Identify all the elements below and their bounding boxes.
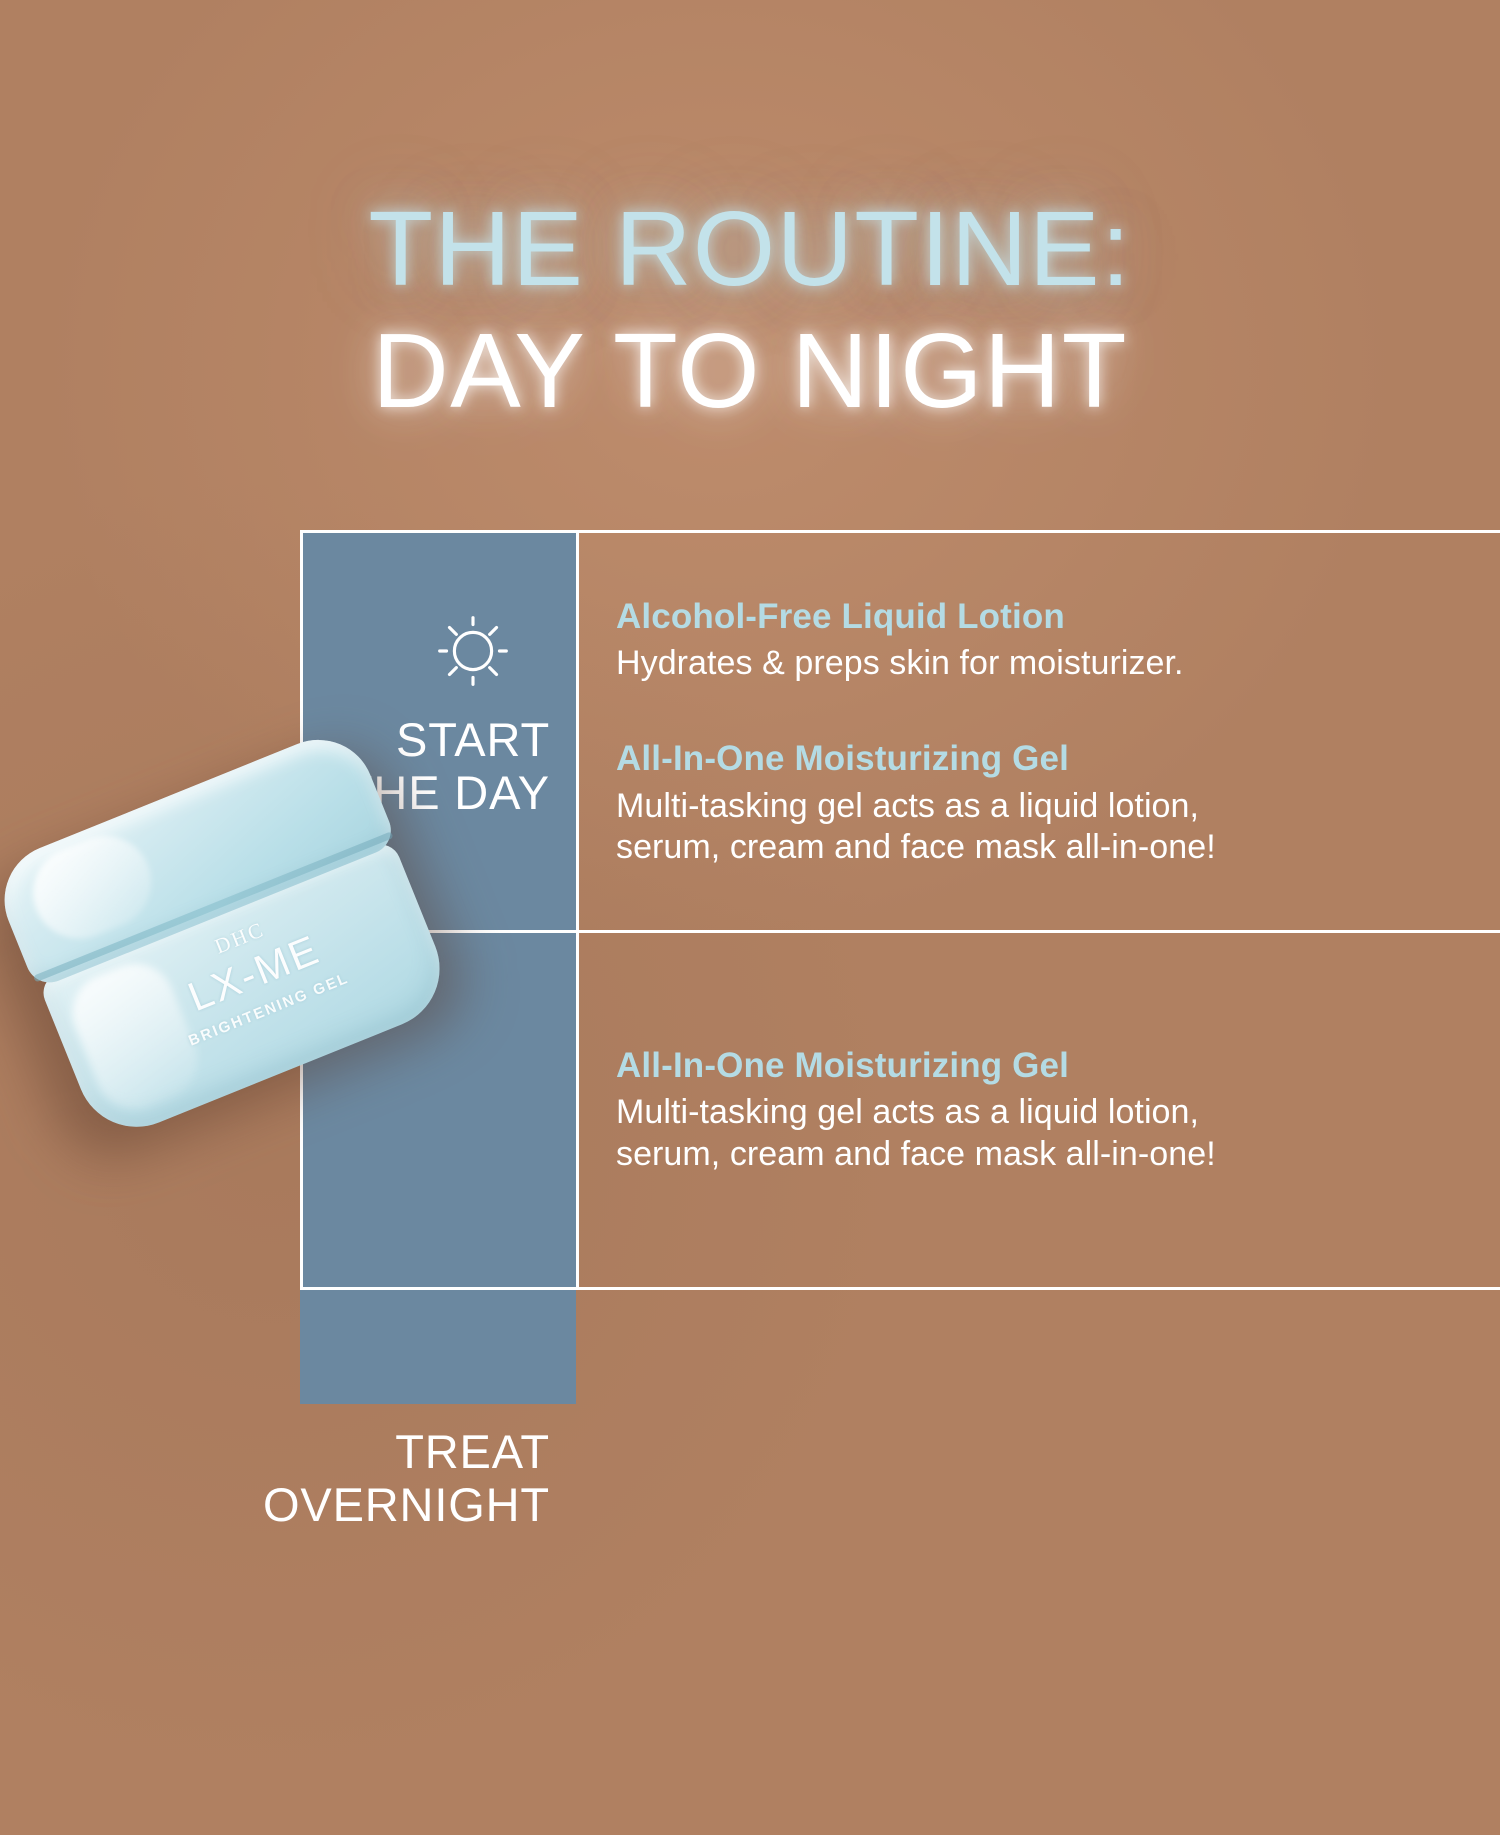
poster-canvas: THE ROUTINE: DAY TO NIGHT [0,0,1500,1835]
title-line-secondary: DAY TO NIGHT [0,318,1500,424]
description-cell-night: All-In-One Moisturizing Gel Multi-taskin… [576,930,1500,1290]
time-label-night: TREAT OVERNIGHT [263,1426,550,1531]
product-description: Multi-tasking gel acts as a liquid lotio… [616,1092,1500,1175]
product-entry: All-In-One Moisturizing Gel Multi-taskin… [616,1045,1500,1175]
routine-table: START THE DAY Alcohol-Free Liquid Lotion… [300,530,1500,1290]
routine-row-day: START THE DAY Alcohol-Free Liquid Lotion… [300,530,1500,930]
product-entry: Alcohol-Free Liquid Lotion Hydrates & pr… [616,596,1500,685]
product-description: Multi-tasking gel acts as a liquid lotio… [616,786,1500,869]
product-name: All-In-One Moisturizing Gel [616,1045,1500,1086]
product-name: Alcohol-Free Liquid Lotion [616,596,1500,637]
description-cell-day: Alcohol-Free Liquid Lotion Hydrates & pr… [576,530,1500,930]
product-name: All-In-One Moisturizing Gel [616,738,1500,779]
title-line-primary: THE ROUTINE: [0,196,1500,318]
sun-icon [424,602,522,700]
product-description: Hydrates & preps skin for moisturizer. [616,643,1500,684]
product-entry: All-In-One Moisturizing Gel Multi-taskin… [616,738,1500,868]
page-title: THE ROUTINE: DAY TO NIGHT [0,196,1500,424]
